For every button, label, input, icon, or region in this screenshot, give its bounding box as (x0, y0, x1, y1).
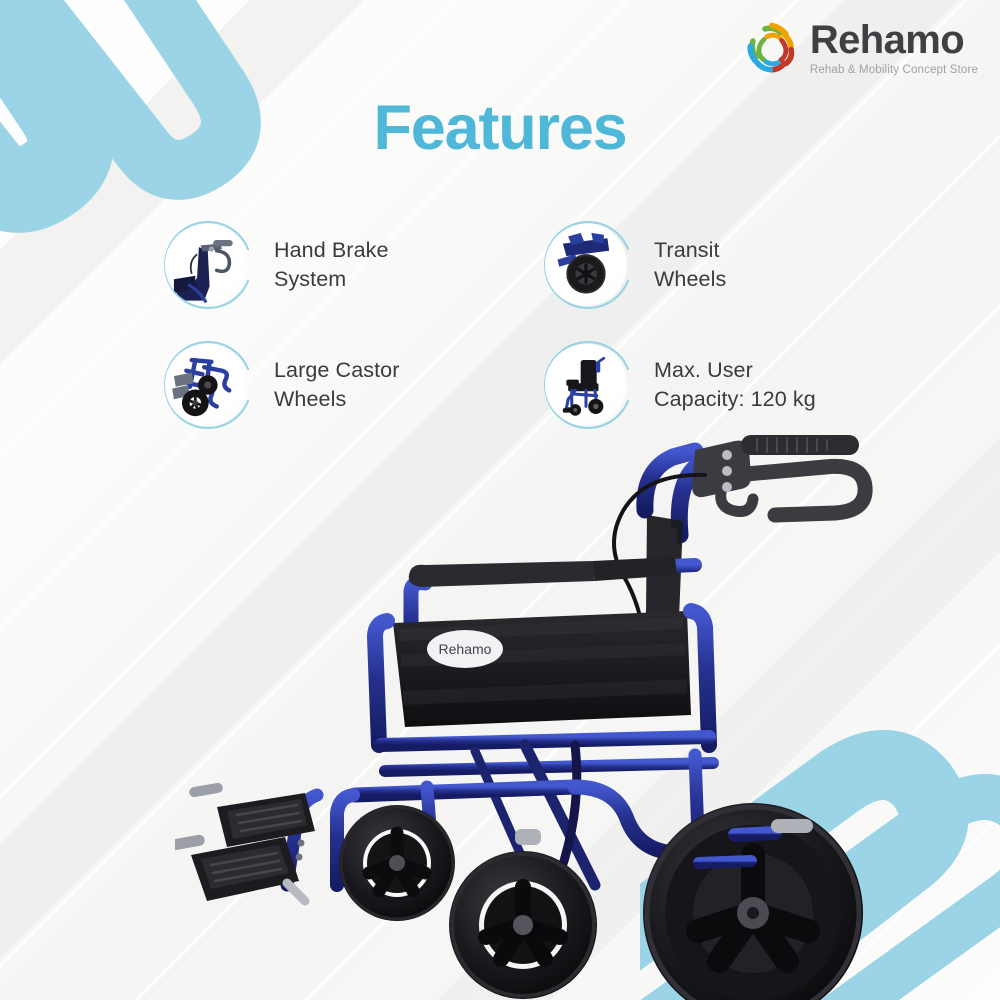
feature-item-hand-brake-system[interactable]: Hand Brake System (160, 205, 540, 325)
page-title: Features (0, 92, 1000, 164)
feature-label: Max. User Capacity: 120 kg (654, 356, 816, 414)
rehamo-logo-mark (746, 22, 798, 74)
feature-label: Large Castor Wheels (274, 356, 400, 414)
wheelchair-illustration: Rehamo (175, 415, 875, 1000)
feature-item-transit-wheels[interactable]: Transit Wheels (540, 205, 920, 325)
feature-label: Transit Wheels (654, 236, 726, 294)
brand-tagline: Rehab & Mobility Concept Store (810, 65, 978, 77)
seat-badge-label: Rehamo (439, 641, 492, 657)
brand-name: Rehamo (810, 20, 978, 60)
feature-grid: Hand Brake System (160, 205, 920, 445)
brand-logo[interactable]: Rehamo Rehab & Mobility Concept Store (746, 20, 978, 77)
feature-thumb-transit-wheels (540, 219, 632, 311)
poster-canvas: Rehamo Rehab & Mobility Concept Store Fe… (0, 0, 1000, 1000)
feature-label: Hand Brake System (274, 236, 389, 294)
feature-thumb-hand-brake (160, 219, 252, 311)
product-image-wheelchair: Rehamo (175, 415, 875, 1000)
